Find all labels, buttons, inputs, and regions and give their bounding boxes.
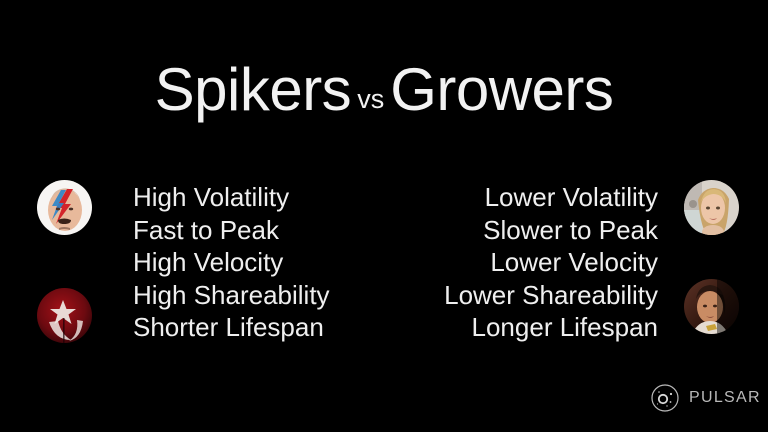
list-item: Fast to Peak bbox=[133, 214, 330, 247]
list-item: High Shareability bbox=[133, 279, 330, 312]
spikers-attribute-list: High Volatility Fast to Peak High Veloci… bbox=[133, 181, 330, 344]
list-item: Lower Shareability bbox=[444, 279, 658, 312]
list-item: Longer Lifespan bbox=[444, 311, 658, 344]
title-connector: vs bbox=[351, 84, 390, 114]
list-item: Shorter Lifespan bbox=[133, 311, 330, 344]
growers-attribute-list: Lower Volatility Slower to Peak Lower Ve… bbox=[444, 181, 658, 344]
pulsar-circle-icon bbox=[650, 383, 680, 413]
avatar-spiker-bowie-facepaint bbox=[37, 180, 92, 235]
list-item: High Velocity bbox=[133, 246, 330, 279]
slide-canvas: SpikersvsGrowers High Volatility Fast to… bbox=[0, 0, 768, 432]
page-title: SpikersvsGrowers bbox=[0, 55, 768, 136]
list-item: Lower Velocity bbox=[444, 246, 658, 279]
pulsar-logo[interactable]: PULSAR bbox=[650, 383, 761, 413]
avatar-spiker-turkish-flag bbox=[37, 288, 92, 343]
avatar-grower-blonde-woman bbox=[684, 180, 739, 235]
title-right-word: Growers bbox=[390, 56, 613, 123]
avatar-grower-young-man bbox=[684, 279, 739, 334]
list-item: Lower Volatility bbox=[444, 181, 658, 214]
title-left-word: Spikers bbox=[155, 56, 352, 123]
pulsar-wordmark: PULSAR bbox=[689, 390, 761, 406]
list-item: Slower to Peak bbox=[444, 214, 658, 247]
list-item: High Volatility bbox=[133, 181, 330, 214]
